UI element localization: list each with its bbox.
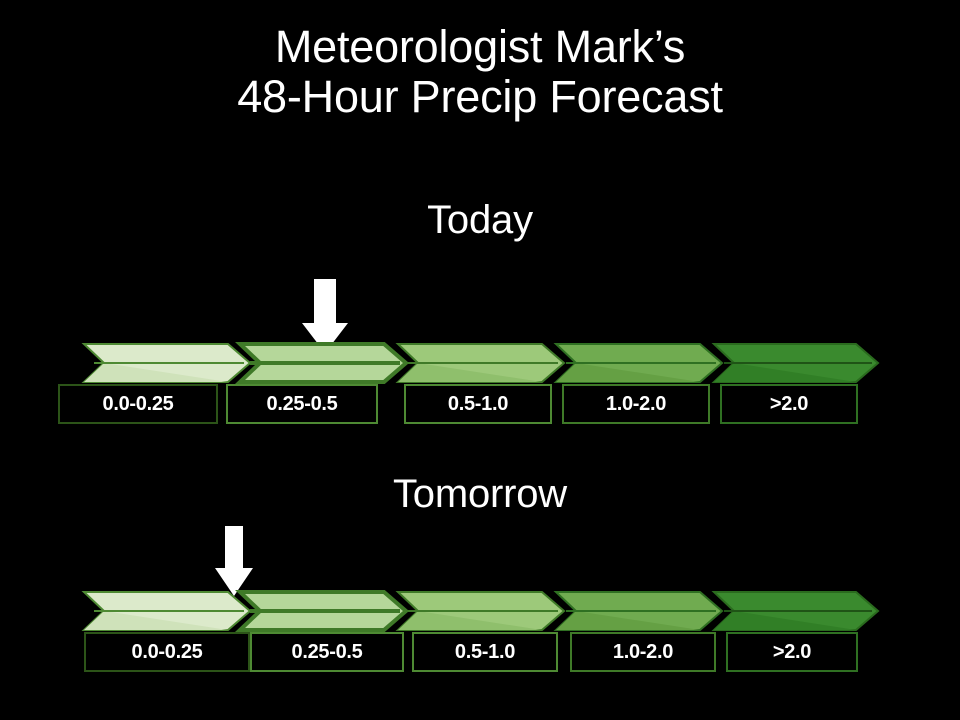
- chevron-segment-3[interactable]: [398, 344, 564, 382]
- legend-box-today-3[interactable]: 0.5-1.0: [404, 384, 552, 424]
- chevron-segment-1[interactable]: [84, 592, 250, 630]
- page-title: Meteorologist Mark’s 48-Hour Precip Fore…: [0, 22, 960, 123]
- legend-box-tomorrow-4[interactable]: 1.0-2.0: [570, 632, 716, 672]
- legend-box-tomorrow-5[interactable]: >2.0: [726, 632, 858, 672]
- legend-label-today-3: 0.5-1.0: [448, 393, 508, 416]
- chevron-band-today: [0, 342, 960, 384]
- legend-box-tomorrow-3[interactable]: 0.5-1.0: [412, 632, 558, 672]
- legend-label-today-2: 0.25-0.5: [267, 393, 338, 416]
- section-heading-tomorrow: Tomorrow: [0, 472, 960, 517]
- down-arrow-icon-tomorrow: [215, 526, 253, 596]
- legend-label-tomorrow-1: 0.0-0.25: [132, 641, 203, 664]
- legend-row-tomorrow: 0.0-0.25 0.25-0.5 0.5-1.0 1.0-2.0 >2.0: [0, 632, 960, 676]
- legend-row-today: 0.0-0.25 0.25-0.5 0.5-1.0 1.0-2.0 >2.0: [0, 384, 960, 428]
- legend-label-today-4: 1.0-2.0: [606, 393, 666, 416]
- legend-label-tomorrow-5: >2.0: [773, 641, 811, 664]
- legend-box-today-2[interactable]: 0.25-0.5: [226, 384, 378, 424]
- precip-scale-today: 0.0-0.25 0.25-0.5 0.5-1.0 1.0-2.0 >2.0: [0, 342, 960, 428]
- chevron-band-tomorrow: [0, 590, 960, 632]
- legend-label-today-5: >2.0: [770, 393, 808, 416]
- legend-box-today-5[interactable]: >2.0: [720, 384, 858, 424]
- chevron-segment-2[interactable]: [240, 344, 406, 382]
- chevron-row-tomorrow: [0, 590, 960, 632]
- legend-label-today-1: 0.0-0.25: [103, 393, 174, 416]
- legend-label-tomorrow-3: 0.5-1.0: [455, 641, 515, 664]
- chevron-segment-4[interactable]: [556, 592, 722, 630]
- chevron-segment-3[interactable]: [398, 592, 564, 630]
- legend-box-tomorrow-1[interactable]: 0.0-0.25: [84, 632, 250, 672]
- chevron-segment-4[interactable]: [556, 344, 722, 382]
- legend-label-tomorrow-2: 0.25-0.5: [292, 641, 363, 664]
- legend-box-today-4[interactable]: 1.0-2.0: [562, 384, 710, 424]
- legend-label-tomorrow-4: 1.0-2.0: [613, 641, 673, 664]
- legend-box-tomorrow-2[interactable]: 0.25-0.5: [250, 632, 404, 672]
- chevron-segment-5[interactable]: [714, 592, 878, 630]
- title-line-2: 48-Hour Precip Forecast: [0, 72, 960, 122]
- chevron-segment-5[interactable]: [714, 344, 878, 382]
- chevron-row-today: [0, 342, 960, 384]
- title-line-1: Meteorologist Mark’s: [0, 22, 960, 72]
- section-heading-today: Today: [0, 198, 960, 243]
- legend-box-today-1[interactable]: 0.0-0.25: [58, 384, 218, 424]
- forecast-slide: Meteorologist Mark’s 48-Hour Precip Fore…: [0, 0, 960, 720]
- precip-scale-tomorrow: 0.0-0.25 0.25-0.5 0.5-1.0 1.0-2.0 >2.0: [0, 590, 960, 676]
- chevron-segment-2[interactable]: [240, 592, 406, 630]
- chevron-segment-1[interactable]: [84, 344, 250, 382]
